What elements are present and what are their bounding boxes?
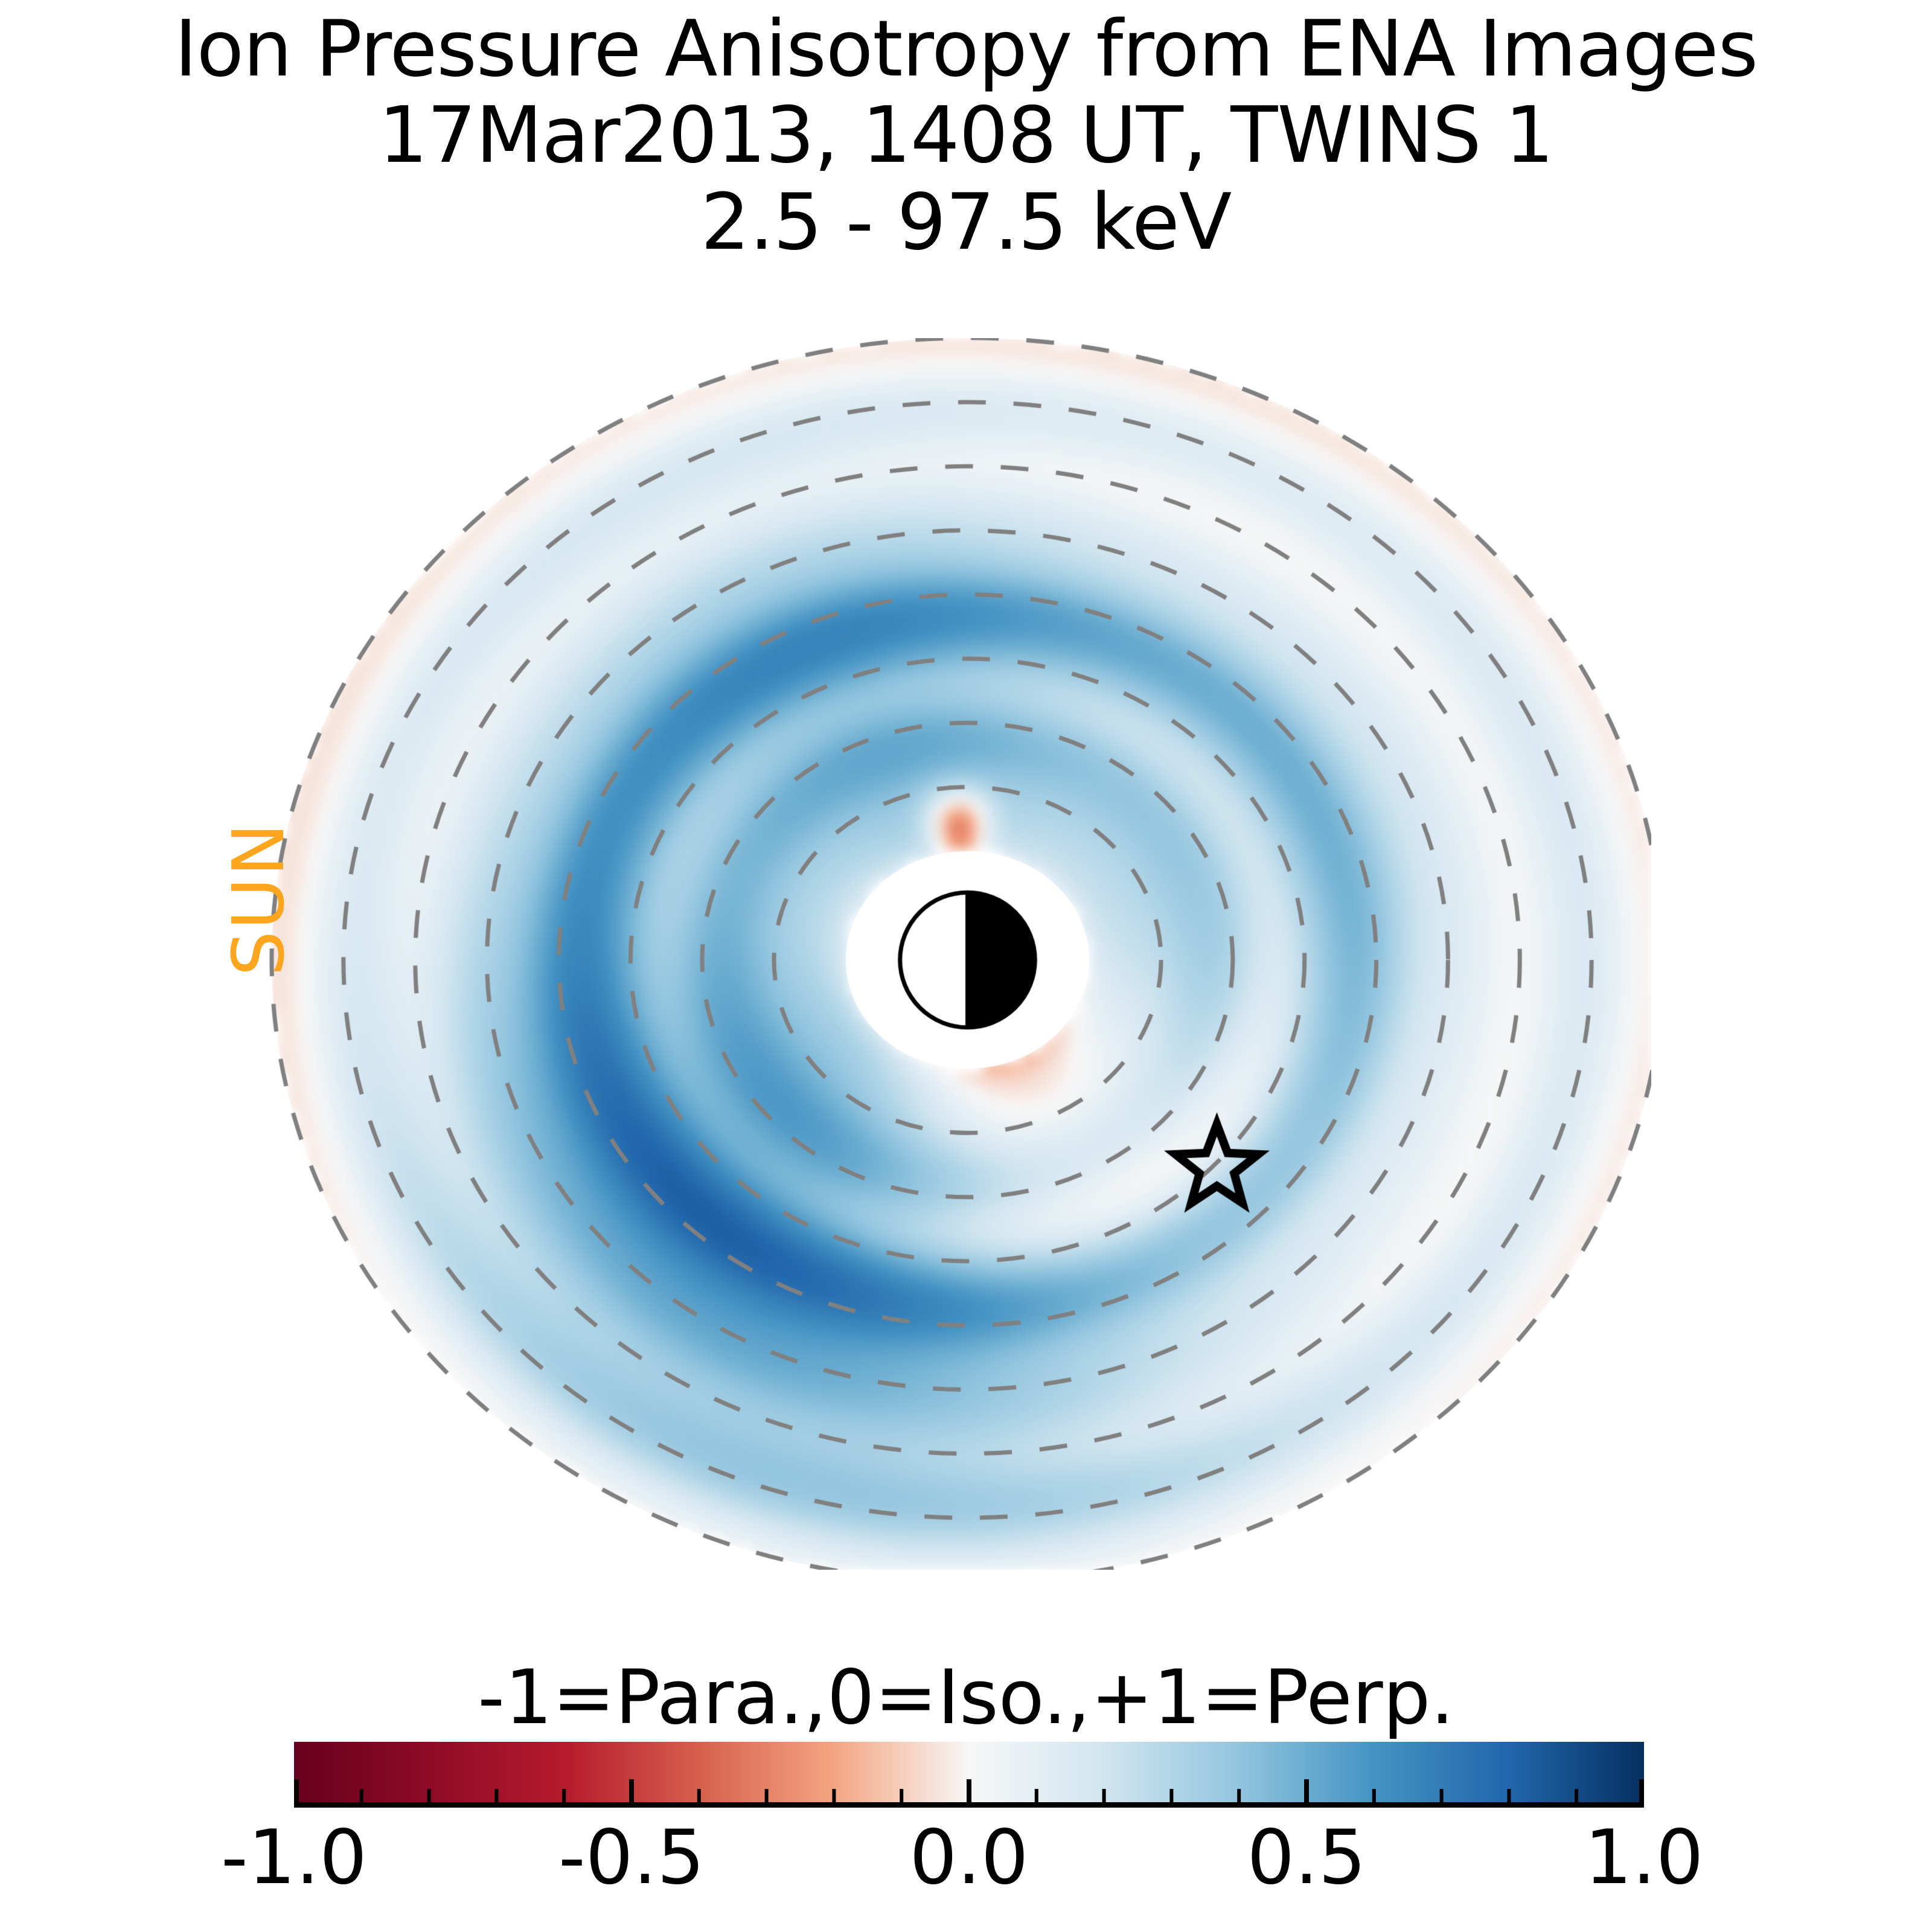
sun-direction-label: SUN xyxy=(217,796,300,1002)
colorbar-tick-label: 1.0 xyxy=(1584,1814,1703,1901)
colorbar-tick-label: 0.5 xyxy=(1247,1814,1366,1901)
colorbar-tick-label: -1.0 xyxy=(221,1814,367,1901)
title-line-1: Ion Pressure Anisotropy from ENA Images xyxy=(0,6,1932,92)
colorbar-tick-label: -0.5 xyxy=(558,1814,705,1901)
colorbar-tick-label: 0.0 xyxy=(909,1814,1028,1901)
colorbar-ticks xyxy=(294,1742,1644,1820)
title-line-2: 17Mar2013, 1408 UT, TWINS 1 xyxy=(0,92,1932,179)
colorbar-label: -1=Para.,0=Iso.,+1=Perp. xyxy=(0,1654,1932,1741)
figure-root: Ion Pressure Anisotropy from ENA Images … xyxy=(0,0,1932,1932)
title-line-3: 2.5 - 97.5 keV xyxy=(0,179,1932,266)
colorbar[interactable] xyxy=(294,1742,1644,1802)
page-title: Ion Pressure Anisotropy from ENA Images … xyxy=(0,6,1932,266)
anisotropy-heatmap-canvas xyxy=(260,338,1651,1570)
colorbar-tick-labels: -1.0-0.50.00.51.0 xyxy=(294,1814,1644,1923)
polar-heatmap-plot xyxy=(260,338,1651,1570)
